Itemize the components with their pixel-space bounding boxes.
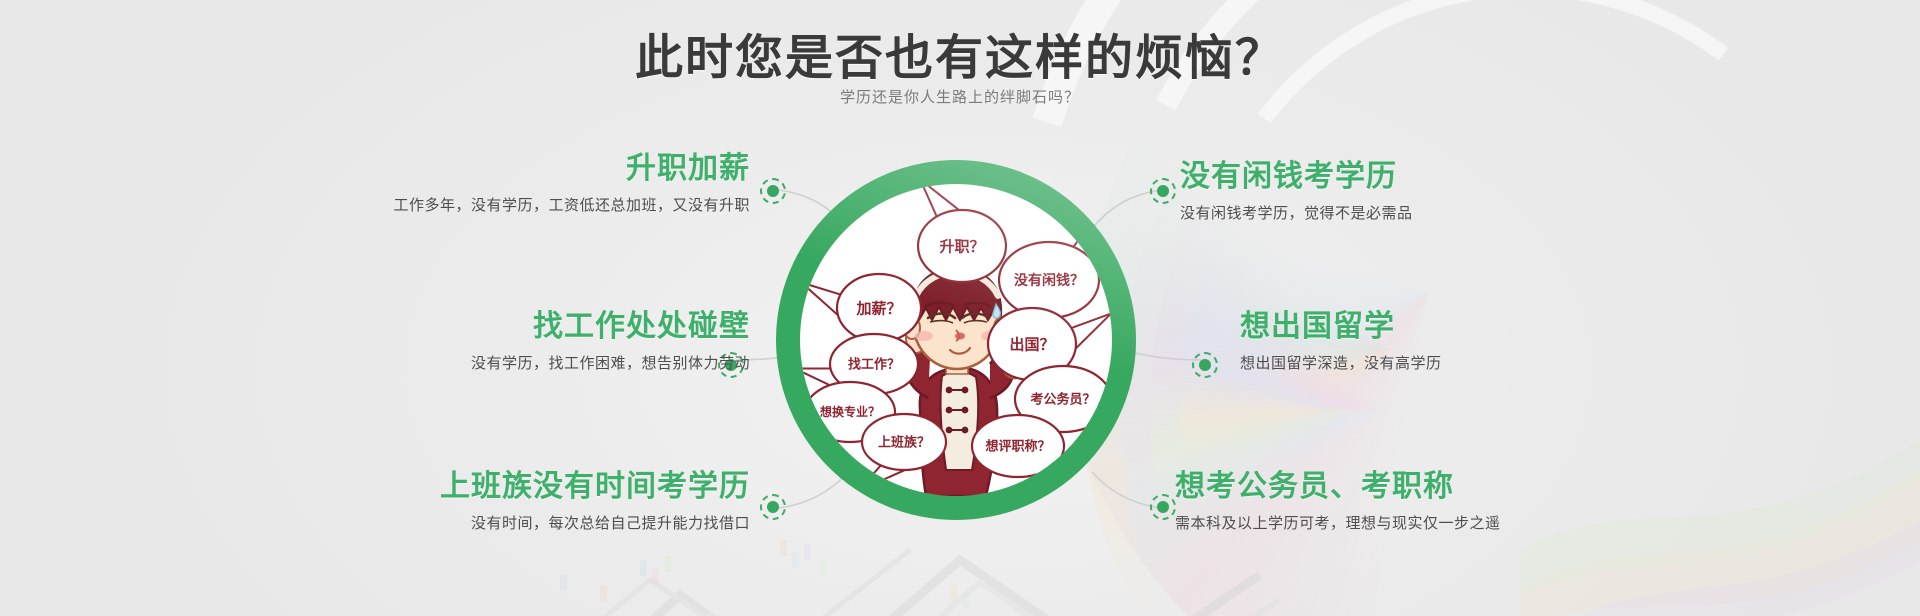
feature-desc: 没有学历，找工作困难，想告别体力劳动 [160, 352, 750, 373]
tick-mark [804, 544, 811, 560]
feature-title: 想出国留学 [1240, 310, 1840, 343]
bubble-text: 没有闲钱？ [1014, 272, 1084, 288]
feature-desc: 想出国留学深造，没有高学历 [1240, 352, 1840, 373]
bubble-text: 想换专业？ [819, 404, 880, 419]
tick-mark [950, 585, 957, 601]
bubble-text: 找工作？ [848, 357, 900, 372]
illustration-container: 升职？没有闲钱？加薪？出国？找工作？考公务员？想换专业？上班族？想评职称？ [800, 184, 1112, 496]
marker-dot-想出国留学[interactable] [1192, 352, 1218, 378]
tick-mark [962, 592, 969, 608]
bubble-text: 考公务员？ [1030, 392, 1095, 407]
marker-dot-上班族没有时间考学历[interactable] [760, 494, 786, 520]
feature-item-right-2[interactable]: 想出国留学 想出国留学深造，没有高学历 [1240, 310, 1840, 373]
feature-item-right-3[interactable]: 想考公务员、考职称 需本科及以上学历可考，理想与现实仅一步之遥 [1175, 470, 1795, 533]
bubble-text: 出国？ [1009, 335, 1054, 353]
worried-person-illustration: 升职？没有闲钱？加薪？出国？找工作？考公务员？想换专业？上班族？想评职称？ [800, 184, 1112, 496]
feature-item-left-3[interactable]: 上班族没有时间考学历 没有时间，每次总给自己提升能力找借口 [160, 470, 750, 533]
tick-mark [600, 585, 607, 601]
bubble-text: 想评职称？ [985, 439, 1050, 454]
tick-mark [820, 560, 827, 576]
promo-banner: 此时您是否也有这样的烦恼？ 学历还是你人生路上的绊脚石吗？ [0, 0, 1920, 616]
zigzag-decoration [560, 520, 1320, 616]
tick-mark [560, 575, 567, 591]
feature-desc: 没有闲钱考学历，觉得不是必需品 [1180, 202, 1780, 223]
feature-item-left-2[interactable]: 找工作处处碰壁 没有学历，找工作困难，想告别体力劳动 [160, 310, 750, 373]
marker-dot-升职加薪[interactable] [760, 178, 786, 204]
feature-item-left-1[interactable]: 升职加薪 工作多年，没有学历，工资低还总加班，又没有升职 [160, 152, 750, 215]
feature-title: 想考公务员、考职称 [1175, 470, 1795, 503]
thought-bubble-0: 升职？ [918, 184, 1006, 282]
feature-title: 找工作处处碰壁 [160, 310, 750, 343]
marker-dot-没有闲钱考学历[interactable] [1150, 178, 1176, 204]
feature-title: 没有闲钱考学历 [1180, 160, 1780, 193]
bubble-text: 加薪？ [855, 299, 901, 317]
feature-desc: 没有时间，每次总给自己提升能力找借口 [160, 512, 750, 533]
feature-desc: 需本科及以上学历可考，理想与现实仅一步之遥 [1175, 512, 1795, 533]
tick-mark [792, 552, 799, 568]
tick-mark [652, 568, 659, 584]
feature-title: 上班族没有时间考学历 [160, 470, 750, 503]
thought-bubble-1: 没有闲钱？ [999, 212, 1099, 318]
feature-item-right-1[interactable]: 没有闲钱考学历 没有闲钱考学历，觉得不是必需品 [1180, 160, 1780, 223]
tick-mark [664, 556, 671, 572]
feature-desc: 工作多年，没有学历，工资低还总加班，又没有升职 [160, 194, 750, 215]
bubble-text: 上班族？ [878, 435, 930, 450]
feature-title: 升职加薪 [160, 152, 750, 185]
page-title: 此时您是否也有这样的烦恼？ [0, 18, 1920, 88]
page-subtitle: 学历还是你人生路上的绊脚石吗？ [0, 86, 1920, 107]
tick-mark [640, 560, 647, 576]
bubble-text: 升职？ [939, 238, 984, 255]
marker-dot-想考公务员考职称[interactable] [1150, 494, 1176, 520]
green-ring: 升职？没有闲钱？加薪？出国？找工作？考公务员？想换专业？上班族？想评职称？ [776, 160, 1136, 520]
thought-bubble-2: 加薪？ [801, 274, 921, 342]
tick-mark [780, 540, 787, 556]
